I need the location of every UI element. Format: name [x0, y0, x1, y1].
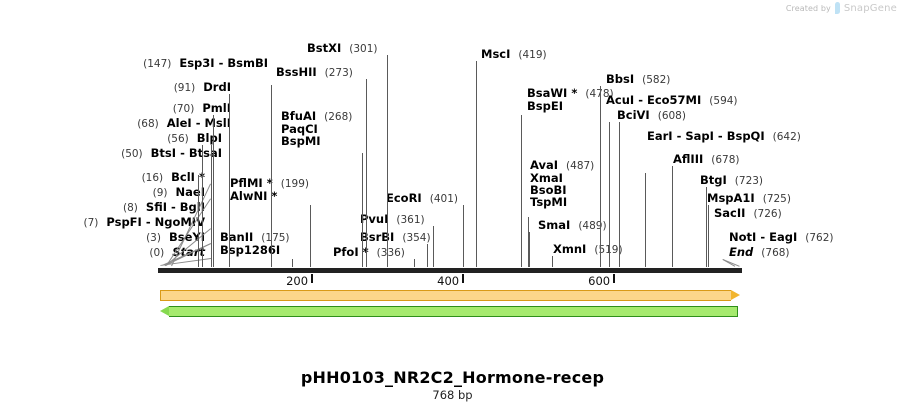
leader-line-blpi	[202, 145, 203, 267]
leader-line-pmli	[213, 115, 214, 267]
forward-feature-arrow[interactable]	[160, 290, 740, 301]
leader-line-bbsi	[600, 86, 601, 267]
leader-line-bcivi	[619, 122, 620, 267]
leader-line-drdi	[229, 94, 230, 267]
leader-line-sacii	[708, 220, 709, 267]
leader-line-acui	[609, 122, 610, 267]
site-label-pspfi[interactable]: (7) PspFI - NgoMIV	[83, 216, 205, 229]
leader-line-msci	[476, 61, 477, 267]
site-label-bseyi[interactable]: (3) BseYI	[146, 231, 205, 244]
credit-prefix: Created by	[786, 4, 831, 13]
site-label-bbsi[interactable]: BbsI (582)	[606, 73, 670, 86]
site-label-drdi[interactable]: (91) DrdI	[174, 81, 231, 94]
site-label-bsawi[interactable]: BsaWI * (478)BspEI	[527, 87, 614, 112]
site-label-acui[interactable]: AcuI - Eco57MI (594)	[606, 94, 738, 107]
site-label-bstxi[interactable]: BstXI (301)	[307, 42, 378, 55]
leader-line-bsrbi	[427, 244, 428, 267]
site-label-avai[interactable]: AvaI (487)XmaIBsoBITspMI	[530, 159, 594, 208]
site-label-xmni[interactable]: XmnI (519)	[553, 243, 623, 256]
leader-line-end	[723, 259, 740, 267]
page-title: pHH0103_NR2C2_Hormone-recep	[0, 368, 905, 387]
site-label-pfoi[interactable]: PfoI * (336)	[333, 246, 405, 259]
ruler-label-400: 400	[437, 274, 459, 288]
credit-brand: SnapGene	[844, 3, 897, 14]
leader-line-bstxi	[387, 55, 388, 267]
ruler-label-600: 600	[588, 274, 610, 288]
leader-line-eari	[645, 173, 646, 267]
leader-line-banii	[292, 259, 293, 267]
leader-line-smai	[529, 232, 530, 267]
site-label-bcli[interactable]: (16) BclI *	[142, 171, 205, 184]
site-label-alei[interactable]: (68) AleI - MslI	[137, 117, 231, 130]
snapgene-logo-icon	[834, 2, 841, 14]
site-label-pvui[interactable]: PvuI (361)	[360, 213, 425, 226]
site-label-end[interactable]: End (768)	[729, 246, 790, 259]
leader-line-btsi	[198, 175, 199, 267]
site-label-mspa1i[interactable]: MspA1I (725)	[707, 192, 791, 205]
site-label-eari[interactable]: EarI - SapI - BspQI (642)	[647, 130, 801, 143]
site-label-bsrbi[interactable]: BsrBI (354)	[360, 231, 431, 244]
leader-line-xmni	[552, 256, 553, 267]
site-label-sfii[interactable]: (8) SfiI - BglI	[123, 201, 205, 214]
ruler-label-200: 200	[286, 274, 308, 288]
sequence-backbone	[158, 268, 742, 273]
site-label-banii[interactable]: BanII (175)Bsp1286I	[220, 231, 290, 256]
leader-line-esp3i	[271, 85, 272, 267]
leader-line-bsawi	[521, 115, 522, 267]
leader-line-bfuai	[362, 153, 363, 267]
ruler-tick-600	[613, 274, 615, 283]
leader-line-afliii	[672, 166, 673, 267]
snapgene-credit: Created by SnapGene	[786, 2, 897, 14]
reverse-feature-arrow[interactable]	[160, 306, 738, 317]
site-label-pflmi[interactable]: PflMI * (199)AlwNI *	[230, 177, 309, 202]
plasmid-map-canvas: Created by SnapGene (0) Start(3) BseYI(7…	[0, 0, 905, 408]
site-label-btgi[interactable]: BtgI (723)	[700, 174, 763, 187]
site-label-noti[interactable]: NotI - EagI (762)	[729, 231, 833, 244]
site-label-bfuai[interactable]: BfuAI (268)PaqCIBspMI	[281, 110, 352, 147]
site-label-afliii[interactable]: AflIII (678)	[673, 153, 740, 166]
site-label-esp3i[interactable]: (147) Esp3I - BsmBI	[143, 57, 268, 70]
leader-line-bsshii	[366, 79, 367, 267]
ruler-tick-400	[462, 274, 464, 283]
site-label-smai[interactable]: SmaI (489)	[538, 219, 607, 232]
site-label-sacii[interactable]: SacII (726)	[714, 207, 782, 220]
ruler-tick-200	[311, 274, 313, 283]
leader-line-ecori	[463, 205, 464, 267]
site-label-bsshii[interactable]: BssHII (273)	[276, 66, 353, 79]
site-label-bcivi[interactable]: BciVI (608)	[617, 109, 686, 122]
site-label-btsi[interactable]: (50) BtsI - BtsaI	[121, 147, 222, 160]
plasmid-length: 768 bp	[0, 388, 905, 402]
leader-line-pvui	[433, 226, 434, 267]
site-label-ecori[interactable]: EcoRI (401)	[386, 192, 458, 205]
leader-line-pfoi	[414, 259, 415, 267]
site-label-pmli[interactable]: (70) PmlI	[173, 102, 231, 115]
leader-line-pflmi	[310, 205, 311, 267]
site-label-msci[interactable]: MscI (419)	[481, 48, 547, 61]
